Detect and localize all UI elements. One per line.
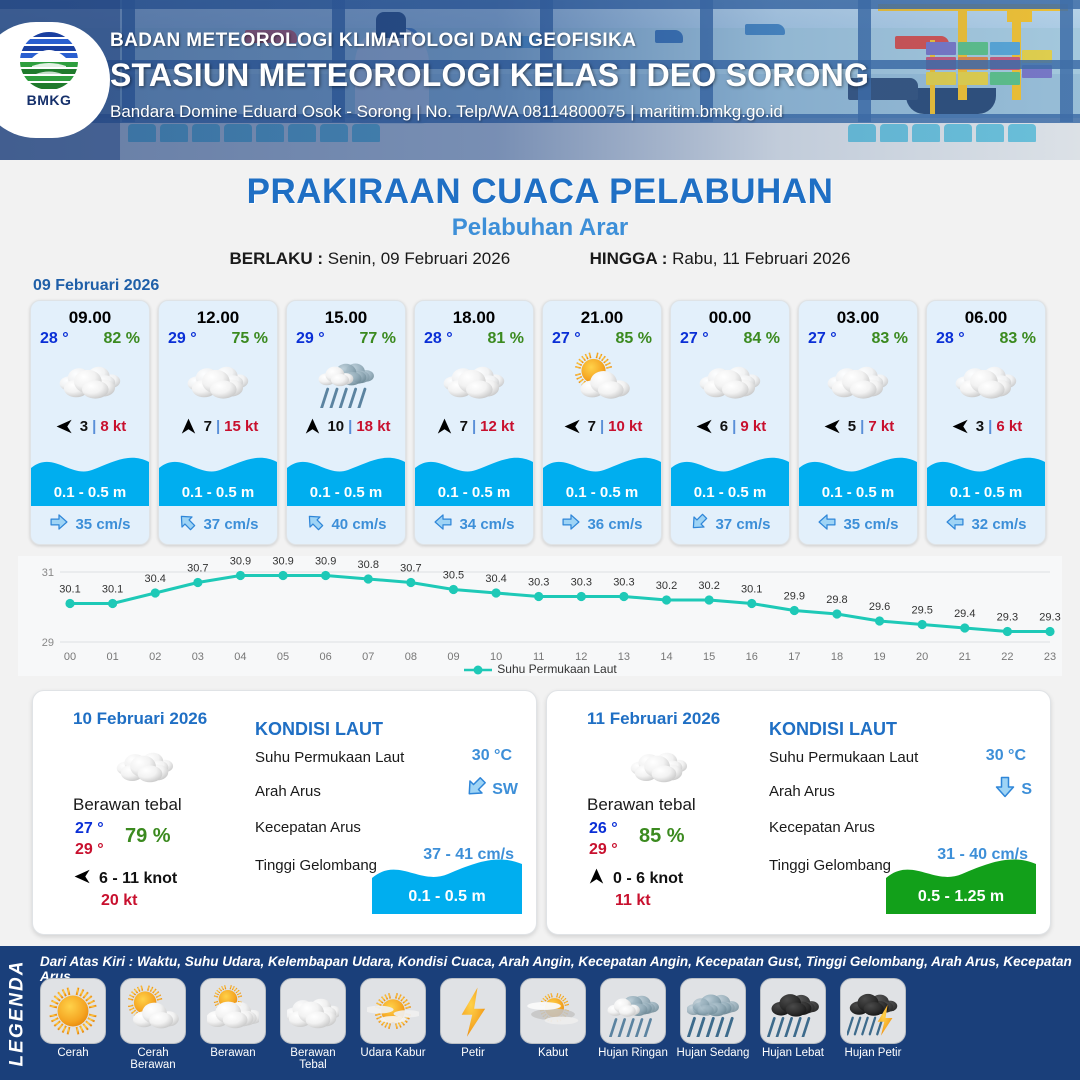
hourly-forecast-row: 09.00 28 ° 82 % 3 | 8 kt xyxy=(30,300,1050,545)
current-direction-arrow-icon xyxy=(561,512,581,537)
current-speed-label: Kecepatan Arus xyxy=(769,819,875,836)
legend-icon-cerah-berawan xyxy=(120,978,186,1044)
card-current-row: 37 cm/s xyxy=(671,512,789,537)
legend-item: Hujan Ringan xyxy=(596,978,670,1071)
agency-name: BADAN METEOROLOGI KLIMATOLOGI DAN GEOFIS… xyxy=(110,30,869,52)
daily-temp-max: 29 ° xyxy=(589,841,618,859)
card-gust: 8 kt xyxy=(100,418,126,435)
validity-row: BERLAKU : Senin, 09 Februari 2026 HINGGA… xyxy=(0,249,1080,269)
daily-humidity: 85 % xyxy=(639,825,685,848)
svg-text:29.8: 29.8 xyxy=(826,594,847,606)
legend-item: Berawan Tebal xyxy=(276,978,350,1071)
card-gust: 7 kt xyxy=(868,418,894,435)
svg-text:29.9: 29.9 xyxy=(784,591,805,603)
svg-text:30.4: 30.4 xyxy=(485,573,506,585)
legend-item-label: Hujan Petir xyxy=(836,1047,910,1059)
svg-text:30.1: 30.1 xyxy=(59,584,80,596)
sst-chart-legend: Suhu Permukaan Laut xyxy=(0,662,1080,676)
card-time: 00.00 xyxy=(671,308,789,328)
card-current-speed: 35 cm/s xyxy=(75,516,130,533)
card-wave-zone: 0.1 - 0.5 m xyxy=(287,448,405,506)
legend-item-label: Cerah Berawan xyxy=(116,1047,190,1071)
legend-item-label: Kabut xyxy=(516,1047,590,1059)
card-current-row: 35 cm/s xyxy=(31,512,149,537)
card-temp-hum-row: 27 ° 83 % xyxy=(799,328,917,348)
card-weather-icon-cerah-berawan xyxy=(543,351,661,409)
card-temp-hum-row: 29 ° 75 % xyxy=(159,328,277,348)
card-wave-height: 0.1 - 0.5 m xyxy=(927,484,1045,501)
card-temperature: 28 ° xyxy=(936,330,965,348)
current-direction-value: SW xyxy=(492,781,518,799)
hourly-card[interactable]: 09.00 28 ° 82 % 3 | 8 kt xyxy=(30,300,150,545)
card-weather-icon-berawan-tebal xyxy=(671,351,789,409)
card-separator: | xyxy=(860,418,864,435)
station-contact: Bandara Domine Eduard Osok - Sorong | No… xyxy=(110,102,869,122)
card-weather-icon-berawan-tebal xyxy=(415,351,533,409)
svg-text:30.8: 30.8 xyxy=(358,559,379,571)
card-temp-hum-row: 29 ° 77 % xyxy=(287,328,405,348)
hourly-card[interactable]: 12.00 29 ° 75 % 7 | 15 kt xyxy=(158,300,278,545)
svg-text:30.9: 30.9 xyxy=(230,556,251,568)
legend-icon-berawan xyxy=(200,978,266,1044)
card-gust: 9 kt xyxy=(740,418,766,435)
card-wave-height: 0.1 - 0.5 m xyxy=(415,484,533,501)
card-temperature: 28 ° xyxy=(40,330,69,348)
wind-direction-arrow-icon xyxy=(301,416,323,436)
daily-condition: Berawan tebal xyxy=(73,795,182,815)
card-weather-icon-berawan-tebal xyxy=(927,351,1045,409)
legend-item-label: Cerah xyxy=(36,1047,110,1059)
daily-wave-shape: 0.1 - 0.5 m xyxy=(372,852,522,914)
card-temp-hum-row: 28 ° 81 % xyxy=(415,328,533,348)
legend-item-label: Berawan xyxy=(196,1047,270,1059)
daily-humidity: 79 % xyxy=(125,825,171,848)
card-wave-height: 0.1 - 0.5 m xyxy=(287,484,405,501)
current-direction-arrow-icon xyxy=(993,775,1017,804)
bmkg-logo-text: BMKG xyxy=(18,92,80,108)
svg-text:30.2: 30.2 xyxy=(656,580,677,592)
legend-icon-hujan-sedang xyxy=(680,978,746,1044)
card-humidity: 83 % xyxy=(872,330,908,348)
valid-until-value: Rabu, 11 Februari 2026 xyxy=(672,249,850,268)
card-wind-row: 3 | 6 kt xyxy=(927,415,1045,437)
current-direction-arrow-icon xyxy=(177,512,197,537)
valid-until-label: HINGGA : xyxy=(590,249,668,268)
svg-text:30.1: 30.1 xyxy=(102,584,123,596)
header-text-block: BADAN METEOROLOGI KLIMATOLOGI DAN GEOFIS… xyxy=(110,30,869,122)
current-direction-arrow-icon xyxy=(464,775,488,804)
card-wind-row: 6 | 9 kt xyxy=(671,415,789,437)
card-temperature: 27 ° xyxy=(552,330,581,348)
daily-temp-max: 29 ° xyxy=(75,841,104,859)
card-current-speed: 40 cm/s xyxy=(331,516,386,533)
current-direction-value-group: S xyxy=(993,775,1032,804)
page-header: BMKG BADAN METEOROLOGI KLIMATOLOGI DAN G… xyxy=(0,0,1080,160)
hourly-card[interactable]: 06.00 28 ° 83 % 3 | 6 kt xyxy=(926,300,1046,545)
daily-wind-range: 0 - 6 knot xyxy=(613,870,683,888)
card-weather-icon-berawan-tebal xyxy=(31,351,149,409)
card-humidity: 75 % xyxy=(232,330,268,348)
daily-forecast-panel-1: 10 Februari 2026 Berawan tebal 27 ° 29 °… xyxy=(32,690,537,935)
legend-icon-cerah xyxy=(40,978,106,1044)
card-separator: | xyxy=(348,418,352,435)
legend-item: Cerah xyxy=(36,978,110,1071)
svg-text:30.3: 30.3 xyxy=(613,577,634,589)
wind-direction-arrow-icon xyxy=(822,416,844,436)
card-wave-height: 0.1 - 0.5 m xyxy=(543,484,661,501)
card-time: 15.00 xyxy=(287,308,405,328)
legend-item-label: Hujan Sedang xyxy=(676,1047,750,1059)
sst-chart: 312930.130.130.430.730.930.930.930.830.7… xyxy=(18,556,1062,676)
card-time: 21.00 xyxy=(543,308,661,328)
svg-text:30.3: 30.3 xyxy=(571,577,592,589)
current-direction-value: S xyxy=(1021,781,1032,799)
daily-condition: Berawan tebal xyxy=(587,795,696,815)
current-direction-arrow-icon xyxy=(49,512,69,537)
current-direction-arrow-icon xyxy=(689,512,709,537)
card-current-row: 35 cm/s xyxy=(799,512,917,537)
svg-text:29.6: 29.6 xyxy=(869,601,890,613)
card-separator: | xyxy=(472,418,476,435)
card-gust: 12 kt xyxy=(480,418,514,435)
legend-item: Kabut xyxy=(516,978,590,1071)
card-separator: | xyxy=(216,418,220,435)
current-direction-arrow-icon xyxy=(817,512,837,537)
legend-item-label: Hujan Lebat xyxy=(756,1047,830,1059)
sst-legend-label: Suhu Permukaan Laut xyxy=(497,662,616,676)
daily-temp-min: 26 ° xyxy=(589,820,618,838)
legend-icon-udara-kabur xyxy=(360,978,426,1044)
card-wind-row: 5 | 7 kt xyxy=(799,415,917,437)
card-wind-speed: 7 xyxy=(204,418,212,435)
svg-text:29: 29 xyxy=(42,637,54,649)
legend-item: Udara Kabur xyxy=(356,978,430,1071)
page-subtitle: Pelabuhan Arar xyxy=(0,214,1080,242)
card-current-speed: 37 cm/s xyxy=(715,516,770,533)
card-humidity: 85 % xyxy=(616,330,652,348)
bmkg-emblem-icon xyxy=(18,30,80,92)
card-wind-speed: 6 xyxy=(720,418,728,435)
card-wave-height: 0.1 - 0.5 m xyxy=(31,484,149,501)
sst-value: 30 °C xyxy=(986,747,1026,765)
legend-item-label: Udara Kabur xyxy=(356,1047,430,1059)
legend-item-label: Hujan Ringan xyxy=(596,1047,670,1059)
card-current-speed: 37 cm/s xyxy=(203,516,258,533)
card-current-row: 36 cm/s xyxy=(543,512,661,537)
card-wind-row: 7 | 15 kt xyxy=(159,415,277,437)
wave-height-label: Tinggi Gelombang xyxy=(769,857,891,874)
card-wave-zone: 0.1 - 0.5 m xyxy=(671,448,789,506)
card-wave-zone: 0.1 - 0.5 m xyxy=(159,448,277,506)
legend-side-label: LEGENDA xyxy=(0,946,34,1080)
svg-text:29.3: 29.3 xyxy=(997,612,1018,624)
current-speed-label: Kecepatan Arus xyxy=(255,819,361,836)
card-wind-speed: 7 xyxy=(460,418,468,435)
card-time: 18.00 xyxy=(415,308,533,328)
svg-text:30.4: 30.4 xyxy=(145,573,166,585)
card-current-speed: 32 cm/s xyxy=(971,516,1026,533)
wind-direction-arrow-icon xyxy=(73,867,92,891)
card-wave-height: 0.1 - 0.5 m xyxy=(159,484,277,501)
hourly-day-label: 09 Februari 2026 xyxy=(33,277,159,295)
daily-temp-min: 27 ° xyxy=(75,820,104,838)
hourly-card[interactable]: 03.00 27 ° 83 % 5 | 7 kt xyxy=(798,300,918,545)
card-temperature: 27 ° xyxy=(808,330,837,348)
card-separator: | xyxy=(600,418,604,435)
legend-icon-hujan-petir xyxy=(840,978,906,1044)
svg-text:31: 31 xyxy=(42,567,54,579)
current-direction-arrow-icon xyxy=(305,512,325,537)
legend-item: Hujan Petir xyxy=(836,978,910,1071)
legend-icon-hujan-lebat xyxy=(760,978,826,1044)
svg-text:30.3: 30.3 xyxy=(528,577,549,589)
card-humidity: 83 % xyxy=(1000,330,1036,348)
daily-date: 10 Februari 2026 xyxy=(73,709,207,729)
wind-direction-arrow-icon xyxy=(54,416,76,436)
legend-item: Cerah Berawan xyxy=(116,978,190,1071)
card-wave-height: 0.1 - 0.5 m xyxy=(671,484,789,501)
valid-from-value: Senin, 09 Februari 2026 xyxy=(328,249,510,268)
card-wave-height: 0.1 - 0.5 m xyxy=(799,484,917,501)
wind-direction-arrow-icon xyxy=(434,416,456,436)
svg-text:30.5: 30.5 xyxy=(443,570,464,582)
current-direction-arrow-icon xyxy=(945,512,965,537)
svg-text:30.9: 30.9 xyxy=(315,556,336,568)
svg-text:29.4: 29.4 xyxy=(954,608,975,620)
svg-text:30.7: 30.7 xyxy=(400,563,421,575)
current-direction-value-group: SW xyxy=(464,775,518,804)
sea-condition-title: KONDISI LAUT xyxy=(255,719,383,740)
card-gust: 15 kt xyxy=(224,418,258,435)
card-gust: 6 kt xyxy=(996,418,1022,435)
card-time: 12.00 xyxy=(159,308,277,328)
card-time: 09.00 xyxy=(31,308,149,328)
station-name: STASIUN METEOROLOGI KELAS I DEO SORONG xyxy=(110,57,869,94)
legend-icon-kabut xyxy=(520,978,586,1044)
card-current-row: 37 cm/s xyxy=(159,512,277,537)
card-wave-zone: 0.1 - 0.5 m xyxy=(31,448,149,506)
card-weather-icon-berawan-tebal xyxy=(159,351,277,409)
svg-text:30.2: 30.2 xyxy=(698,580,719,592)
card-wind-speed: 10 xyxy=(327,418,344,435)
card-time: 06.00 xyxy=(927,308,1045,328)
card-current-speed: 34 cm/s xyxy=(459,516,514,533)
card-wind-row: 10 | 18 kt xyxy=(287,415,405,437)
card-temp-hum-row: 27 ° 84 % xyxy=(671,328,789,348)
card-wind-row: 7 | 12 kt xyxy=(415,415,533,437)
card-humidity: 84 % xyxy=(744,330,780,348)
card-current-row: 34 cm/s xyxy=(415,512,533,537)
card-wave-zone: 0.1 - 0.5 m xyxy=(799,448,917,506)
wind-direction-arrow-icon xyxy=(562,416,584,436)
daily-wave-value: 0.1 - 0.5 m xyxy=(372,888,522,906)
legend-side-text: LEGENDA xyxy=(6,960,28,1067)
daily-gust: 11 kt xyxy=(615,892,651,910)
legend-item: Hujan Lebat xyxy=(756,978,830,1071)
card-temperature: 27 ° xyxy=(680,330,709,348)
daily-wind-row: 0 - 6 knot xyxy=(587,867,683,891)
card-humidity: 82 % xyxy=(104,330,140,348)
legend-item-label: Berawan Tebal xyxy=(276,1047,350,1071)
card-humidity: 81 % xyxy=(488,330,524,348)
sst-label: Suhu Permukaan Laut xyxy=(255,749,404,766)
card-separator: | xyxy=(732,418,736,435)
card-wind-speed: 7 xyxy=(588,418,596,435)
card-temperature: 29 ° xyxy=(296,330,325,348)
legend-icon-berawan-tebal xyxy=(280,978,346,1044)
card-separator: | xyxy=(988,418,992,435)
card-wave-zone: 0.1 - 0.5 m xyxy=(543,448,661,506)
hourly-card[interactable]: 21.00 27 ° 85 % 7 | 10 kt 0. xyxy=(542,300,662,545)
wind-direction-arrow-icon xyxy=(178,416,200,436)
card-temperature: 28 ° xyxy=(424,330,453,348)
card-temp-hum-row: 28 ° 83 % xyxy=(927,328,1045,348)
card-gust: 10 kt xyxy=(608,418,642,435)
daily-wind-row: 6 - 11 knot xyxy=(73,867,177,891)
card-weather-icon-berawan-tebal xyxy=(799,351,917,409)
card-current-row: 40 cm/s xyxy=(287,512,405,537)
wind-direction-arrow-icon xyxy=(950,416,972,436)
sst-label: Suhu Permukaan Laut xyxy=(769,749,918,766)
valid-from-label: BERLAKU : xyxy=(230,249,324,268)
wave-height-label: Tinggi Gelombang xyxy=(255,857,377,874)
daily-wind-range: 6 - 11 knot xyxy=(99,870,177,888)
card-time: 03.00 xyxy=(799,308,917,328)
card-temperature: 29 ° xyxy=(168,330,197,348)
card-current-speed: 36 cm/s xyxy=(587,516,642,533)
sst-value: 30 °C xyxy=(472,747,512,765)
card-wind-row: 3 | 8 kt xyxy=(31,415,149,437)
card-wind-speed: 3 xyxy=(976,418,984,435)
sea-condition-title: KONDISI LAUT xyxy=(769,719,897,740)
card-gust: 18 kt xyxy=(356,418,390,435)
card-wave-zone: 0.1 - 0.5 m xyxy=(415,448,533,506)
card-temp-hum-row: 28 ° 82 % xyxy=(31,328,149,348)
legend-icon-hujan-ringan xyxy=(600,978,666,1044)
hourly-card[interactable]: 18.00 28 ° 81 % 7 | 12 kt xyxy=(414,300,534,545)
hourly-card[interactable]: 15.00 29 ° 77 % 10 | 18 kt xyxy=(286,300,406,545)
svg-text:30.1: 30.1 xyxy=(741,584,762,596)
current-direction-label: Arah Arus xyxy=(255,783,321,800)
daily-gust: 20 kt xyxy=(101,892,137,910)
svg-text:30.9: 30.9 xyxy=(272,556,293,568)
svg-text:29.5: 29.5 xyxy=(911,605,932,617)
wind-direction-arrow-icon xyxy=(587,867,606,891)
legend-icon-petir xyxy=(440,978,506,1044)
legend-item: Hujan Sedang xyxy=(676,978,750,1071)
wind-direction-arrow-icon xyxy=(694,416,716,436)
legend-item-label: Petir xyxy=(436,1047,510,1059)
card-temp-hum-row: 27 ° 85 % xyxy=(543,328,661,348)
daily-forecast-panel-2: 11 Februari 2026 Berawan tebal 26 ° 29 °… xyxy=(546,690,1051,935)
legend-icon-row: Cerah Cerah Berawan xyxy=(36,978,1080,1071)
current-direction-label: Arah Arus xyxy=(769,783,835,800)
card-weather-icon-hujan-ringan xyxy=(287,351,405,409)
daily-weather-icon-berawan-tebal xyxy=(105,739,185,791)
card-current-row: 32 cm/s xyxy=(927,512,1045,537)
daily-date: 11 Februari 2026 xyxy=(587,709,720,729)
card-wind-speed: 5 xyxy=(848,418,856,435)
daily-wave-value: 0.5 - 1.25 m xyxy=(886,888,1036,906)
daily-wave-shape: 0.5 - 1.25 m xyxy=(886,852,1036,914)
card-wave-zone: 0.1 - 0.5 m xyxy=(927,448,1045,506)
legend-item: Petir xyxy=(436,978,510,1071)
current-direction-arrow-icon xyxy=(433,512,453,537)
svg-text:29.3: 29.3 xyxy=(1039,612,1060,624)
hourly-card[interactable]: 00.00 27 ° 84 % 6 | 9 kt xyxy=(670,300,790,545)
card-separator: | xyxy=(92,418,96,435)
legend-item: Berawan xyxy=(196,978,270,1071)
svg-text:30.7: 30.7 xyxy=(187,563,208,575)
card-wind-speed: 3 xyxy=(80,418,88,435)
card-humidity: 77 % xyxy=(360,330,396,348)
card-wind-row: 7 | 10 kt xyxy=(543,415,661,437)
daily-weather-icon-berawan-tebal xyxy=(619,739,699,791)
card-current-speed: 35 cm/s xyxy=(843,516,898,533)
legend-line-marker-icon xyxy=(463,664,493,676)
page-title: PRAKIRAAN CUACA PELABUHAN xyxy=(0,172,1080,212)
